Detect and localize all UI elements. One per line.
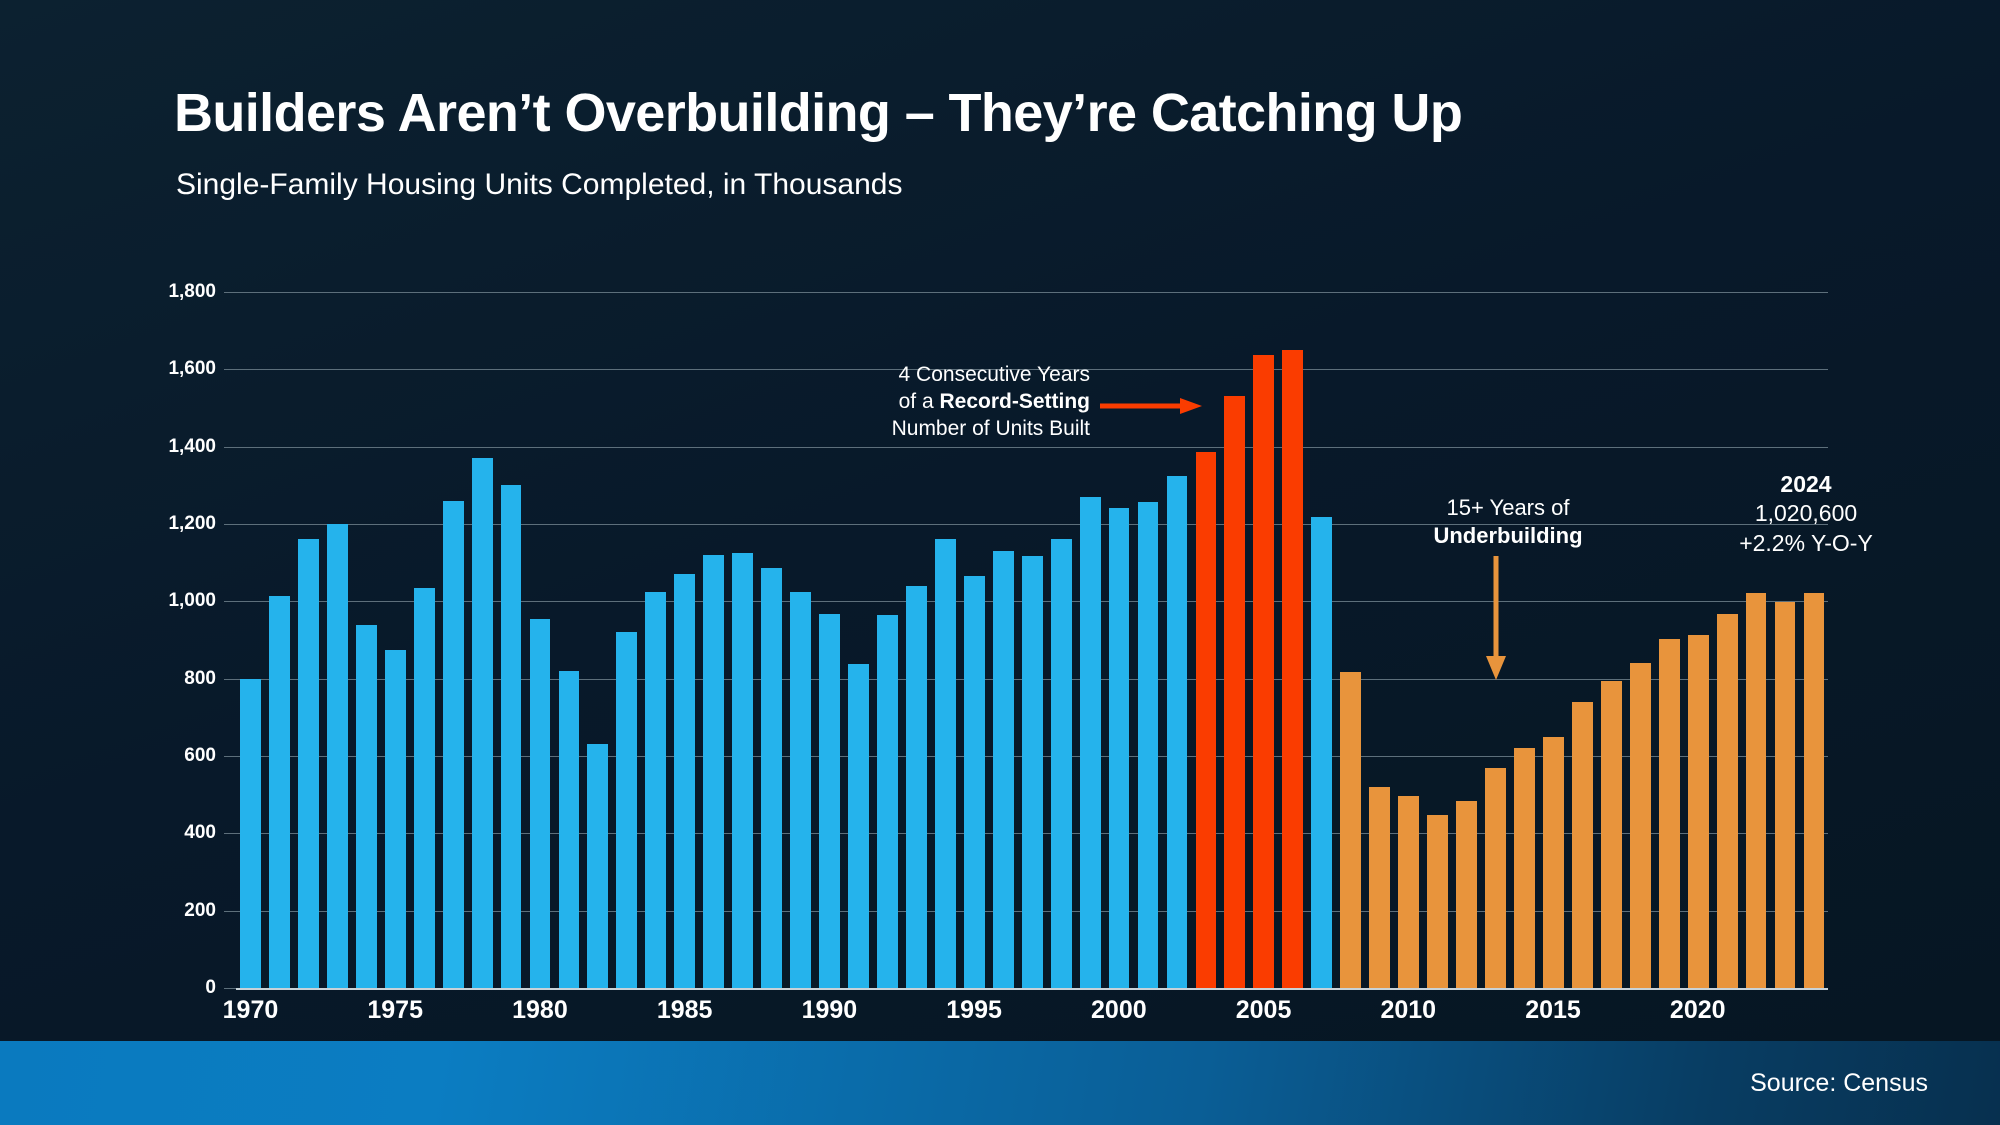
bar-1995[interactable]: [964, 576, 985, 988]
bar-1990[interactable]: [819, 614, 840, 988]
bar-slot[interactable]: [1799, 292, 1828, 988]
x-axis-tick-label: 2010: [1380, 996, 1436, 1025]
bar-slot[interactable]: [1568, 292, 1597, 988]
y-axis-tickmark: [224, 369, 236, 370]
y-axis-tickmark: [224, 679, 236, 680]
bar-slot[interactable]: [323, 292, 352, 988]
x-axis-tick-label: 1990: [802, 996, 858, 1025]
bar-2001[interactable]: [1138, 502, 1159, 988]
bar-2021[interactable]: [1717, 614, 1738, 988]
bar-slot[interactable]: [641, 292, 670, 988]
bar-slot[interactable]: [1423, 292, 1452, 988]
x-axis-tick-label: 2000: [1091, 996, 1147, 1025]
bar-slot[interactable]: [583, 292, 612, 988]
annotation-underbuilding-line1: 15+ Years of: [1400, 494, 1616, 522]
bar-1986[interactable]: [703, 555, 724, 988]
footer-bar: Source: Census: [0, 1041, 2000, 1125]
bar-2019[interactable]: [1659, 639, 1680, 988]
x-axis-tick-label: 2020: [1670, 996, 1726, 1025]
y-axis-tickmark: [224, 601, 236, 602]
bar-1971[interactable]: [269, 596, 290, 988]
bar-1976[interactable]: [414, 588, 435, 988]
bar-slot[interactable]: [265, 292, 294, 988]
annotation-latest-change: +2.2% Y-O-Y: [1700, 529, 1912, 558]
bar-slot[interactable]: [1742, 292, 1771, 988]
arrow-down-icon: [1486, 556, 1506, 680]
bar-slot[interactable]: [1105, 292, 1134, 988]
bar-2009[interactable]: [1369, 787, 1390, 988]
bar-1983[interactable]: [616, 632, 637, 988]
bar-slot[interactable]: [1626, 292, 1655, 988]
bar-slot[interactable]: [1655, 292, 1684, 988]
bar-slot[interactable]: [699, 292, 728, 988]
bar-slot[interactable]: [1597, 292, 1626, 988]
y-axis-tick-label: 1,400: [76, 436, 216, 458]
annotation-underbuilding-line2: Underbuilding: [1400, 522, 1616, 550]
y-axis-tickmark: [224, 292, 236, 293]
bar-2024[interactable]: [1804, 593, 1825, 988]
y-axis-tick-label: 1,600: [76, 358, 216, 380]
bar-1979[interactable]: [501, 485, 522, 988]
bar-slot[interactable]: [1134, 292, 1163, 988]
x-axis-tick-label: 1995: [946, 996, 1002, 1025]
bar-1994[interactable]: [935, 539, 956, 988]
bar-1980[interactable]: [530, 619, 551, 988]
bar-2004[interactable]: [1224, 396, 1245, 988]
bar-slot[interactable]: [439, 292, 468, 988]
bar-1984[interactable]: [645, 592, 666, 988]
bar-slot[interactable]: [728, 292, 757, 988]
bar-slot[interactable]: [497, 292, 526, 988]
bar-slot[interactable]: [1539, 292, 1568, 988]
bar-slot[interactable]: [526, 292, 555, 988]
bar-2003[interactable]: [1196, 452, 1217, 988]
x-axis-tick-label: 2005: [1236, 996, 1292, 1025]
bar-1982[interactable]: [587, 744, 608, 988]
bar-2013[interactable]: [1485, 768, 1506, 988]
bar-1973[interactable]: [327, 524, 348, 988]
bar-2007[interactable]: [1311, 517, 1332, 988]
page-subtitle: Single-Family Housing Units Completed, i…: [176, 168, 902, 202]
bar-slot[interactable]: [786, 292, 815, 988]
bar-slot[interactable]: [1771, 292, 1800, 988]
bar-slot[interactable]: [381, 292, 410, 988]
bar-slot[interactable]: [1163, 292, 1192, 988]
x-axis-tick-label: 2015: [1525, 996, 1581, 1025]
bar-1992[interactable]: [877, 615, 898, 988]
bar-1991[interactable]: [848, 664, 869, 988]
y-axis-tick-label: 600: [76, 745, 216, 767]
x-axis-tick-label: 1980: [512, 996, 568, 1025]
y-axis-tick-label: 400: [76, 822, 216, 844]
annotation-record-line1: 4 Consecutive Years: [840, 362, 1090, 389]
annotation-record-line3: Number of Units Built: [840, 416, 1090, 443]
bar-1988[interactable]: [761, 568, 782, 988]
bar-slot[interactable]: [554, 292, 583, 988]
bar-1985[interactable]: [674, 574, 695, 988]
bar-slot[interactable]: [1220, 292, 1249, 988]
bar-slot[interactable]: [410, 292, 439, 988]
bar-2006[interactable]: [1282, 350, 1303, 988]
slide-root: Builders Aren’t Overbuilding – They’re C…: [0, 0, 2000, 1125]
bar-2000[interactable]: [1109, 508, 1130, 988]
bar-slot[interactable]: [612, 292, 641, 988]
y-axis-tickmark: [224, 756, 236, 757]
bar-1977[interactable]: [443, 501, 464, 988]
y-axis-tick-label: 800: [76, 668, 216, 690]
annotation-record-line2: of a Record-Setting: [840, 389, 1090, 416]
bar-slot[interactable]: [1278, 292, 1307, 988]
bar-2015[interactable]: [1543, 737, 1564, 988]
bar-2010[interactable]: [1398, 796, 1419, 988]
bar-1999[interactable]: [1080, 497, 1101, 988]
annotation-record-line2-bold: Record-Setting: [939, 390, 1090, 413]
y-axis-tick-label: 0: [76, 977, 216, 999]
bar-1974[interactable]: [356, 625, 377, 988]
x-axis-labels: 1970197519801985199019952000200520102015…: [236, 996, 1828, 1036]
y-axis-tickmark: [224, 524, 236, 525]
bar-2018[interactable]: [1630, 663, 1651, 988]
bar-2017[interactable]: [1601, 681, 1622, 988]
bar-2014[interactable]: [1514, 748, 1535, 988]
y-axis-tick-label: 1,200: [76, 513, 216, 535]
bar-slot[interactable]: [1394, 292, 1423, 988]
bar-slot[interactable]: [294, 292, 323, 988]
bar-1993[interactable]: [906, 586, 927, 988]
bar-1975[interactable]: [385, 650, 406, 988]
bar-1978[interactable]: [472, 458, 493, 988]
bar-slot[interactable]: [757, 292, 786, 988]
bar-1989[interactable]: [790, 592, 811, 988]
bar-slot[interactable]: [1713, 292, 1742, 988]
bar-slot[interactable]: [1307, 292, 1336, 988]
bar-slot[interactable]: [468, 292, 497, 988]
y-axis-tickmark: [224, 447, 236, 448]
bar-1996[interactable]: [993, 551, 1014, 988]
bar-slot[interactable]: [1336, 292, 1365, 988]
x-axis-tick-label: 1970: [223, 996, 279, 1025]
bar-1981[interactable]: [559, 671, 580, 988]
y-axis-tickmark: [224, 988, 236, 989]
bar-slot[interactable]: [1365, 292, 1394, 988]
bar-2011[interactable]: [1427, 815, 1448, 988]
bar-1987[interactable]: [732, 553, 753, 988]
bar-2008[interactable]: [1340, 672, 1361, 988]
bar-slot[interactable]: [1510, 292, 1539, 988]
annotation-underbuilding: 15+ Years of Underbuilding: [1400, 494, 1616, 550]
bar-1970[interactable]: [240, 679, 261, 988]
bar-slot[interactable]: [1249, 292, 1278, 988]
bar-slot[interactable]: [1452, 292, 1481, 988]
y-axis-tickmark: [224, 833, 236, 834]
gridline: [236, 988, 1828, 990]
bar-1972[interactable]: [298, 539, 319, 988]
page-title: Builders Aren’t Overbuilding – They’re C…: [174, 82, 1462, 144]
bar-1998[interactable]: [1051, 539, 1072, 988]
y-axis-tickmark: [224, 911, 236, 912]
bar-2022[interactable]: [1746, 593, 1767, 988]
y-axis-tick-label: 1,800: [76, 281, 216, 303]
bar-slot[interactable]: [670, 292, 699, 988]
bar-2016[interactable]: [1572, 702, 1593, 988]
bar-1997[interactable]: [1022, 556, 1043, 988]
x-axis-tick-label: 1975: [367, 996, 423, 1025]
bar-2002[interactable]: [1167, 476, 1188, 988]
source-label: Source: Census: [1750, 1041, 2000, 1125]
y-axis-tick-label: 1,000: [76, 590, 216, 612]
bar-2023[interactable]: [1775, 602, 1796, 988]
bar-2020[interactable]: [1688, 635, 1709, 988]
bar-2012[interactable]: [1456, 801, 1477, 988]
annotation-record-line2-prefix: of a: [899, 390, 940, 413]
annotation-latest-year-label: 2024: [1700, 470, 1912, 499]
bar-2005[interactable]: [1253, 355, 1274, 988]
bar-slot[interactable]: [352, 292, 381, 988]
annotation-record-setting: 4 Consecutive Years of a Record-Setting …: [840, 362, 1090, 443]
annotation-latest-value: 1,020,600: [1700, 499, 1912, 528]
annotation-latest-year: 2024 1,020,600 +2.2% Y-O-Y: [1700, 470, 1912, 558]
arrow-right-icon: [1100, 398, 1202, 414]
y-axis-tick-label: 200: [76, 900, 216, 922]
bar-slot[interactable]: [1684, 292, 1713, 988]
x-axis-tick-label: 1985: [657, 996, 713, 1025]
bar-slot[interactable]: [236, 292, 265, 988]
bar-slot[interactable]: [1191, 292, 1220, 988]
